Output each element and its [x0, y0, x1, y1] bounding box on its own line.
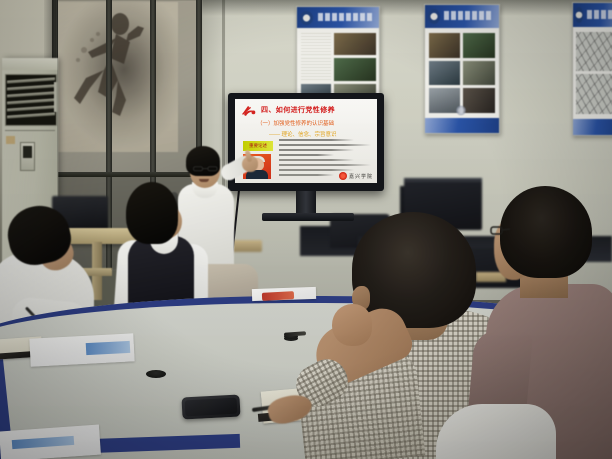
wall-poster-3 [572, 2, 612, 136]
slide-body-text [279, 139, 371, 159]
ac-brand-label [6, 136, 15, 144]
ac-pipe [54, 82, 58, 112]
poster-photo [334, 58, 377, 80]
hand-on-chin [332, 304, 372, 346]
slide-footer-logo: 嘉兴学院 [339, 172, 373, 180]
eyeglasses-icon [490, 226, 516, 236]
poster-text-block [301, 33, 331, 55]
phone-screen [185, 398, 238, 417]
poster-content-grid [576, 32, 612, 114]
presenter-mouth [199, 179, 209, 182]
ac-panel-seam [5, 130, 55, 131]
presentation-slide: 四、如何进行党性修养 （一）加强党性修养的认识基础 —— 理论、信念、宗旨意识 … [235, 99, 377, 183]
woman-hair [126, 182, 178, 244]
poster-text-block [301, 58, 331, 80]
red-folder [262, 291, 294, 301]
poster-footer [425, 118, 499, 133]
slide-title: 四、如何进行党性修养 [261, 105, 335, 115]
runner-silhouette-icon [74, 8, 150, 126]
display-screen: 四、如何进行党性修养 （一）加强党性修养的认识基础 —— 理论、信念、宗旨意识 … [235, 99, 377, 183]
person-white-shirt-edge [436, 404, 556, 459]
poster-photo [334, 33, 377, 55]
poster-emblem-icon [300, 11, 313, 25]
poster-photo [463, 61, 495, 85]
smartphone[interactable] [181, 394, 240, 419]
eyeglasses-icon [193, 166, 218, 172]
poster-photo [429, 33, 461, 57]
ac-vent-grille-icon [5, 74, 57, 126]
blue-letterhead-paper [86, 341, 131, 355]
wall-poster-2 [424, 4, 500, 134]
slide-highlight-tag-label: 重要论述 [249, 143, 267, 149]
ac-display [23, 146, 32, 158]
ac-control-panel[interactable] [20, 142, 35, 171]
poster-seal-icon [456, 105, 466, 117]
poster-content-grid [429, 33, 496, 112]
slide-subtitle-1: （一）加强党性修养的认识基础 [257, 119, 334, 127]
poster-title-bar [318, 13, 372, 21]
cpc-emblem-icon [241, 104, 257, 118]
poster-map-panel [576, 32, 612, 71]
poster-map-panel [576, 74, 612, 113]
slide-seal-icon [339, 172, 347, 180]
meeting-room-photo: 四、如何进行党性修养 （一）加强党性修养的认识基础 —— 理论、信念、宗旨意识 … [0, 0, 612, 459]
poster-photo [463, 33, 495, 57]
presentation-display: 四、如何进行党性修养 （一）加强党性修养的认识基础 —— 理论、信念、宗旨意识 … [228, 93, 384, 191]
slide-logo-text: 嘉兴学院 [349, 173, 373, 180]
poster-emblem-icon [428, 9, 440, 24]
ac-top-panel [2, 58, 58, 70]
poster-photo [429, 61, 461, 85]
ceiling-shadow [196, 0, 612, 16]
slide-subtitle-2: —— 理论、信念、宗旨意识 [269, 130, 337, 138]
poster-footer [573, 119, 612, 135]
poster-title-bar [587, 10, 612, 19]
display-stand-base [262, 213, 354, 221]
poster-title-bar [444, 11, 493, 20]
cable-grommet [146, 370, 166, 378]
window-mullion-horizontal [52, 172, 202, 177]
cabinet-top-edge [404, 178, 482, 182]
poster-photo [463, 88, 495, 112]
